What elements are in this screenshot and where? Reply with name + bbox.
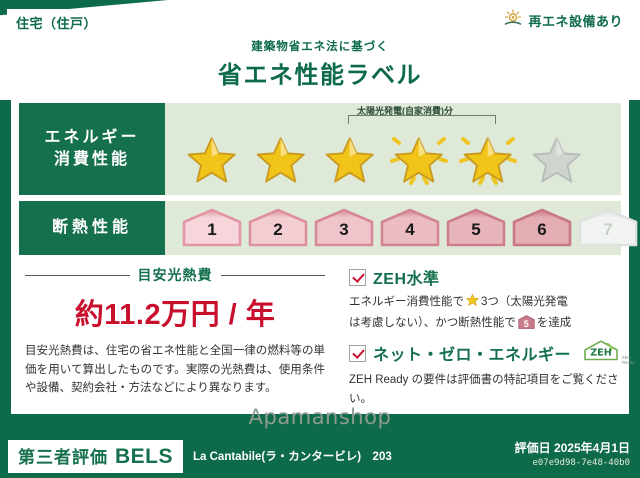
zeh-netzero-body: ZEH Ready の要件は評価書の特記項目をご覧ください。 (349, 371, 621, 408)
bels-badge: 第三者評価 BELS (8, 440, 183, 473)
energy-label-line-2: 消費性能 (54, 149, 130, 171)
footer-right: 評価日 2025年4月1日 e07e9d98-7e48-40b0 (515, 439, 630, 468)
star-icon (455, 125, 521, 189)
renewable-chip-label: 再エネ設備あり (528, 11, 623, 30)
title-main: 省エネ性能ラベル (0, 55, 640, 90)
insulation-level-number: 2 (247, 220, 309, 240)
insulation-level-4: 4 (379, 208, 441, 248)
insulation-level-number: 6 (511, 220, 573, 240)
insulation-label-text: 断熱性能 (52, 217, 132, 239)
zeh-standard-body: エネルギー消費性能で3つ（太陽光発電は考慮しない）、かつ断熱性能で5を達成 (349, 293, 621, 332)
property-name: La Cantabile(ラ・カンタービレ) 203 (193, 448, 392, 464)
zeh-netzero-heading: ネット・ゼロ・エネルギー ZEH ZEHReady (349, 339, 621, 367)
star-icon (248, 125, 314, 189)
energy-star-rating (165, 123, 621, 191)
title-subtitle: 建築物省エネ法に基づく (0, 38, 640, 54)
record-id: e07e9d98-7e48-40b0 (515, 458, 630, 468)
sun-icon (503, 9, 523, 32)
utility-cost-panel: 目安光熱費 約11.2万円 / 年 目安光熱費は、住宅の省エネ性能と全国一律の燃… (19, 263, 331, 416)
star-icon (317, 125, 383, 189)
utility-cost-value: 約11.2万円 / 年 (25, 291, 325, 333)
bels-badge-jp: 第三者評価 (18, 443, 108, 468)
insulation-level-3: 3 (313, 208, 375, 248)
zeh-body-pre: エネルギー消費性能で (349, 296, 464, 308)
energy-performance-label: エネルギー 消費性能 (19, 103, 165, 195)
insulation-level-number: 3 (313, 220, 375, 240)
utility-cost-heading-text: 目安光熱費 (138, 265, 213, 285)
zeh-panel: ZEH水準 エネルギー消費性能で3つ（太陽光発電は考慮しない）、かつ断熱性能で5… (331, 263, 621, 416)
insulation-level-number: 1 (181, 220, 243, 240)
energy-label-line-1: エネルギー (44, 127, 139, 149)
zeh-netzero-title: ネット・ゼロ・エネルギー (373, 341, 571, 365)
utility-cost-heading: 目安光熱費 (25, 265, 325, 285)
svg-text:ZEH: ZEH (590, 348, 612, 359)
zeh-body-post: を達成 (537, 317, 572, 329)
watermark: Apamanshop (0, 405, 640, 429)
zeh-item-standard: ZEH水準 エネルギー消費性能で3つ（太陽光発電は考慮しない）、かつ断熱性能で5… (349, 265, 621, 332)
insulation-performance-label: 断熱性能 (19, 201, 165, 255)
insulation-badge-value: 5 (518, 317, 535, 332)
evaluation-date: 評価日 2025年4月1日 (515, 439, 630, 456)
zeh-ready-sublabel: ZEHReady (622, 356, 638, 366)
insulation-level-6: 6 (511, 208, 573, 248)
check-icon (349, 269, 366, 286)
insulation-level-number: 7 (577, 220, 639, 240)
zeh-body-starcount: 3つ（太陽光発電 (481, 296, 568, 308)
zeh-standard-heading: ZEH水準 (349, 265, 621, 289)
insulation-performance-row: 断熱性能 1 2 3 (19, 201, 621, 255)
insulation-level-5: 5 (445, 208, 507, 248)
star-icon (179, 125, 245, 189)
footer-bar: 第三者評価 BELS La Cantabile(ラ・カンタービレ) 203 評価… (0, 434, 640, 478)
check-icon (349, 345, 366, 362)
bels-energy-label: 住宅（住戸） 再エネ設備あり 建築物省エネ法に基づく 省エネ性能ラベル (0, 0, 640, 478)
zeh-standard-title: ZEH水準 (373, 265, 440, 289)
star-icon (465, 293, 480, 314)
star-icon (524, 125, 590, 189)
zeh-body-mid: は考慮しない）、かつ断熱性能で (349, 317, 516, 329)
energy-performance-row: エネルギー 消費性能 太陽光発電(自家消費)分 (19, 103, 621, 195)
insulation-level-number: 4 (379, 220, 441, 240)
card-bottom: 目安光熱費 約11.2万円 / 年 目安光熱費は、住宅の省エネ性能と全国一律の燃… (19, 263, 621, 416)
rule-right (221, 275, 326, 276)
insulation-level-number: 5 (445, 220, 507, 240)
insulation-badge-icon: 5 (518, 315, 535, 329)
insulation-level-7: 7 (577, 208, 639, 248)
insulation-level-scale: 1 2 3 4 (165, 201, 639, 255)
bels-badge-en: BELS (115, 445, 173, 469)
utility-cost-description: 目安光熱費は、住宅の省エネ性能と全国一律の燃料等の単価を用いて算出したものです。… (25, 342, 325, 398)
rule-left (25, 275, 130, 276)
zeh-house-logo-icon: ZEH ZEHReady (581, 339, 621, 367)
star-icon (386, 125, 452, 189)
zeh-item-net-zero: ネット・ゼロ・エネルギー ZEH ZEHReady ZEH Ready の要件は… (349, 339, 621, 408)
insulation-level-1: 1 (181, 208, 243, 248)
category-chip: 住宅（住戸） (7, 9, 106, 37)
renewable-equipment-chip: 再エネ設備あり (497, 6, 633, 35)
label-card: エネルギー 消費性能 太陽光発電(自家消費)分 (11, 96, 629, 414)
energy-star-area: 太陽光発電(自家消費)分 (165, 103, 621, 195)
insulation-level-2: 2 (247, 208, 309, 248)
title-block: 建築物省エネ法に基づく 省エネ性能ラベル (0, 38, 640, 90)
